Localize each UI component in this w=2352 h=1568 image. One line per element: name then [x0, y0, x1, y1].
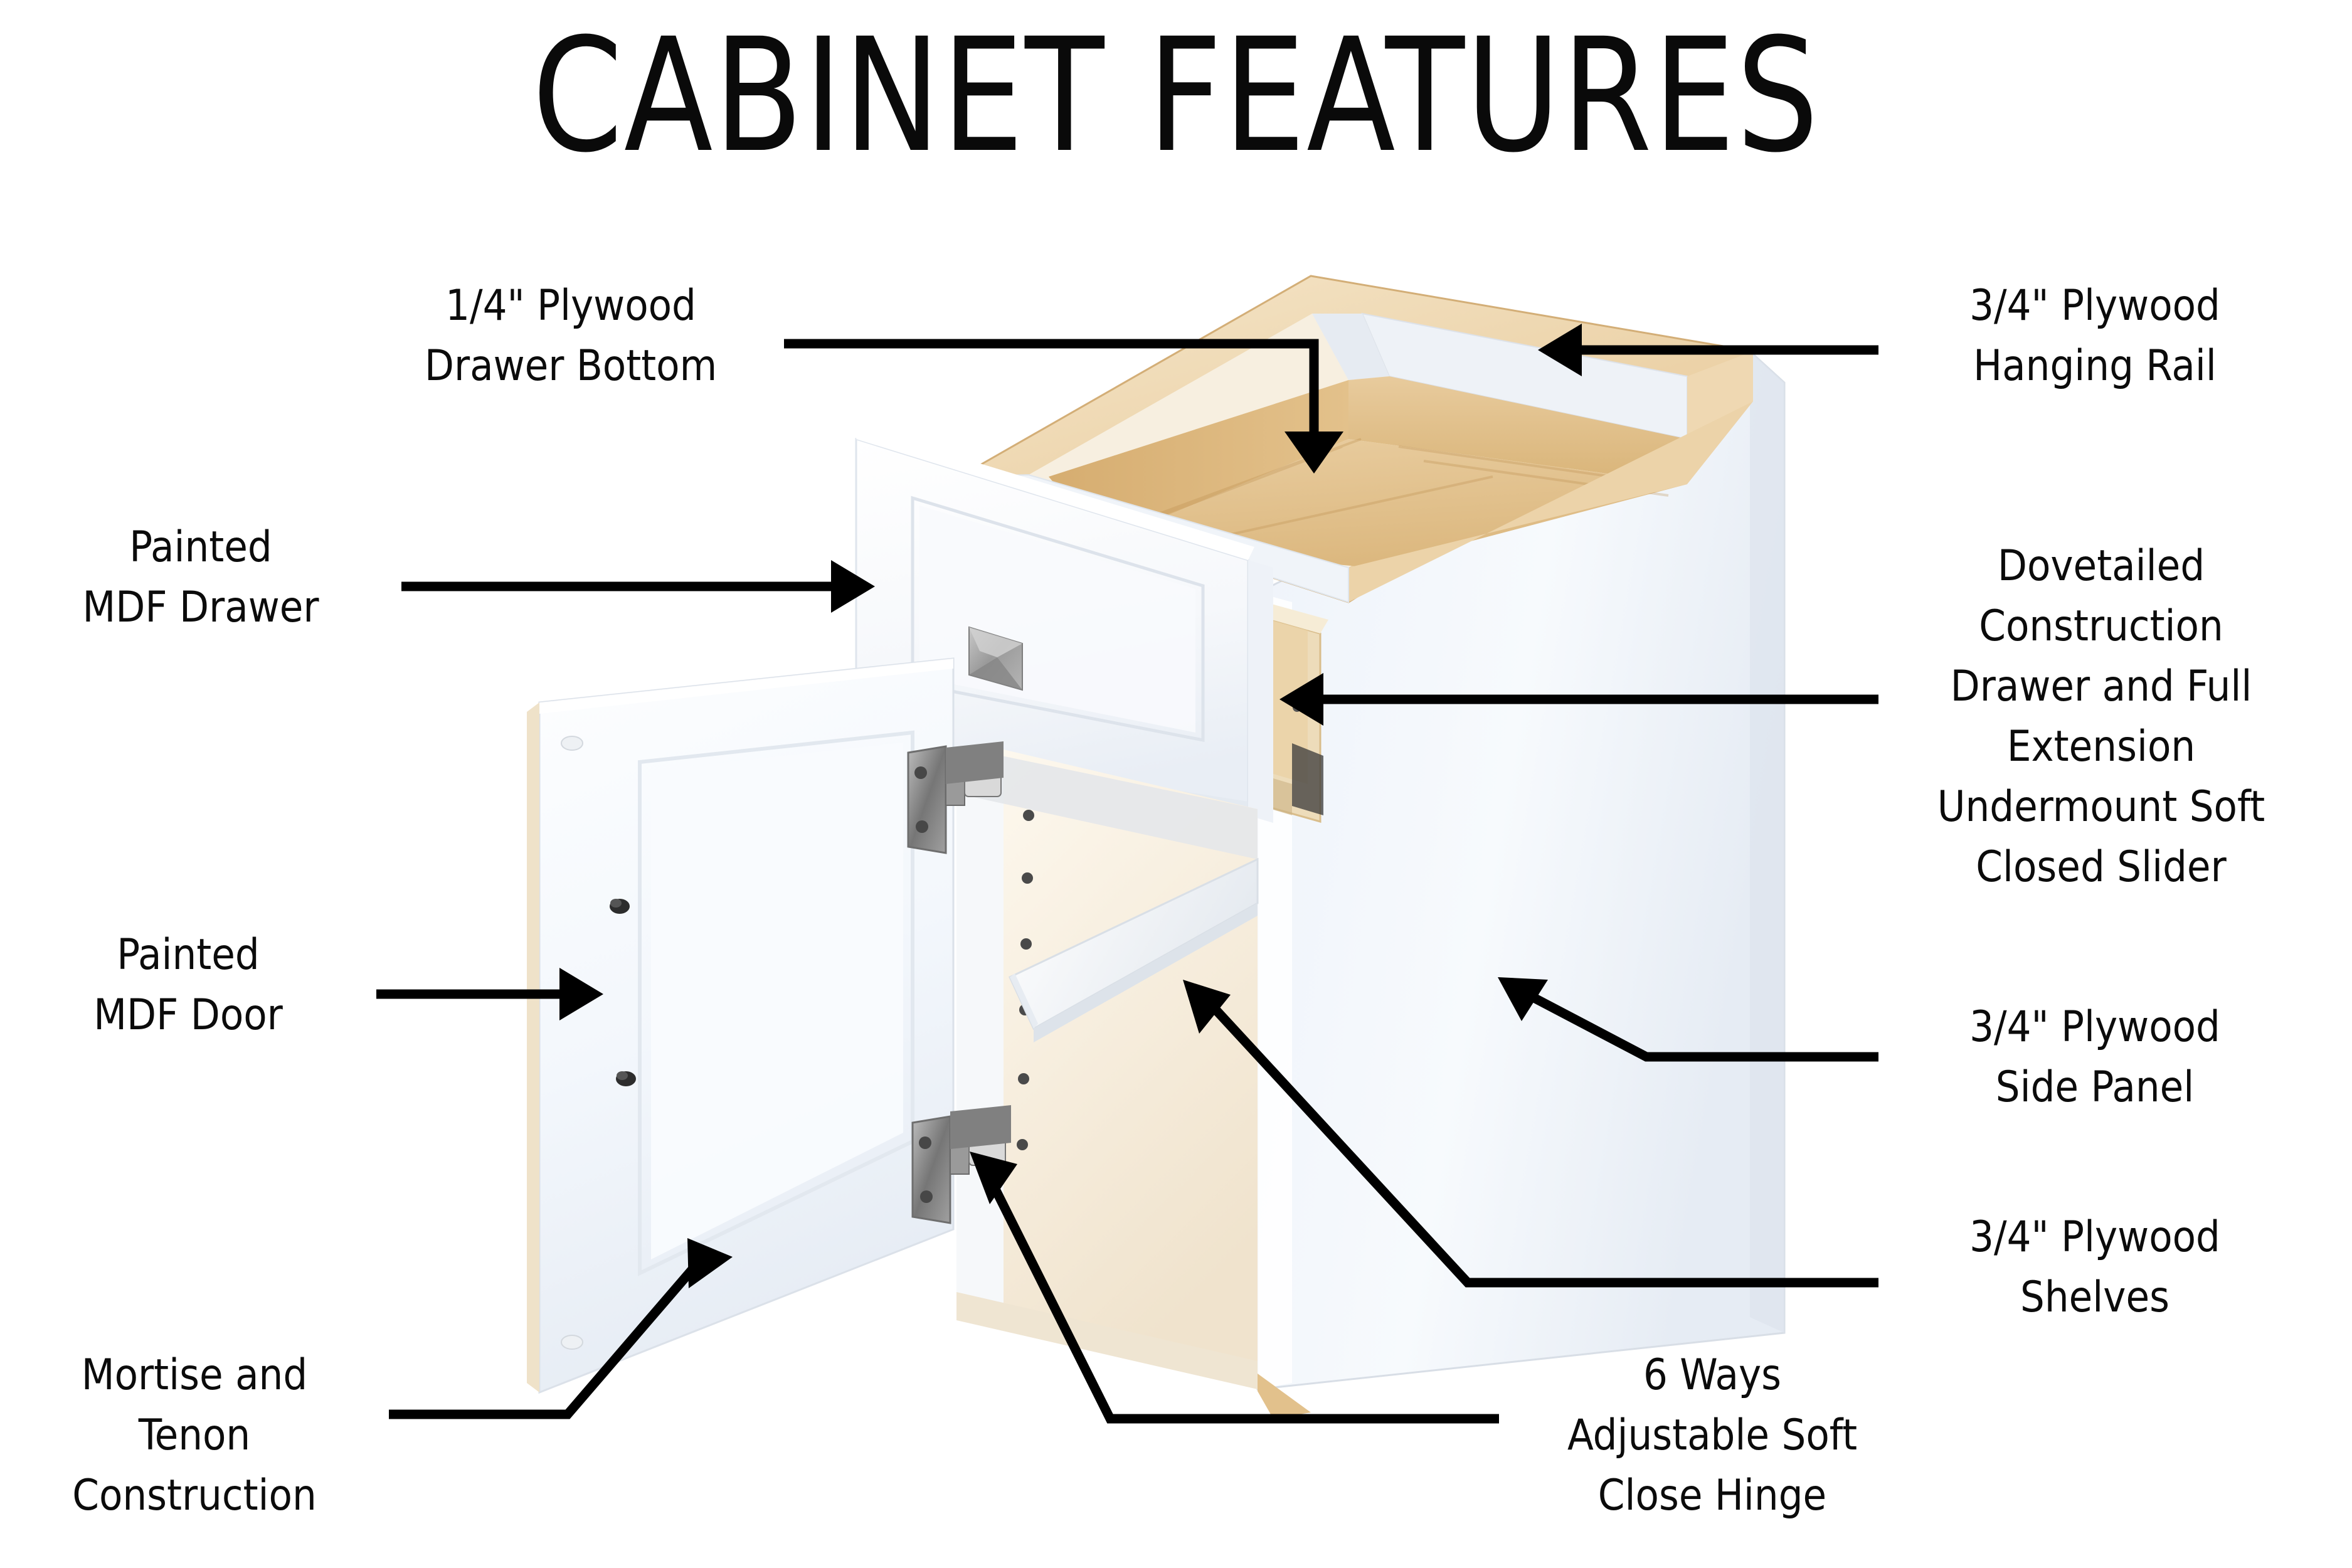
label-hinge: 6 Ways Adjustable Soft Close Hinge	[1493, 1345, 1932, 1526]
label-dovetailed-construction: Dovetailed Construction Drawer and Full …	[1882, 536, 2321, 898]
label-mortise-tenon: Mortise and Tenon Construction	[0, 1345, 389, 1526]
label-drawer-bottom: 1/4" Plywood Drawer Bottom	[351, 276, 790, 396]
door-painted-open	[527, 659, 953, 1392]
cabinet-interior	[956, 746, 1258, 1389]
label-hanging-rail: 3/4" Plywood Hanging Rail	[1882, 276, 2308, 396]
label-side-panel: 3/4" Plywood Side Panel	[1882, 997, 2308, 1118]
label-painted-mdf-drawer: Painted MDF Drawer	[13, 517, 389, 638]
label-painted-mdf-door: Painted MDF Door	[0, 925, 376, 1046]
poster-canvas: CABINET FEATURES	[0, 0, 2352, 1568]
label-shelves: 3/4" Plywood Shelves	[1882, 1207, 2308, 1328]
